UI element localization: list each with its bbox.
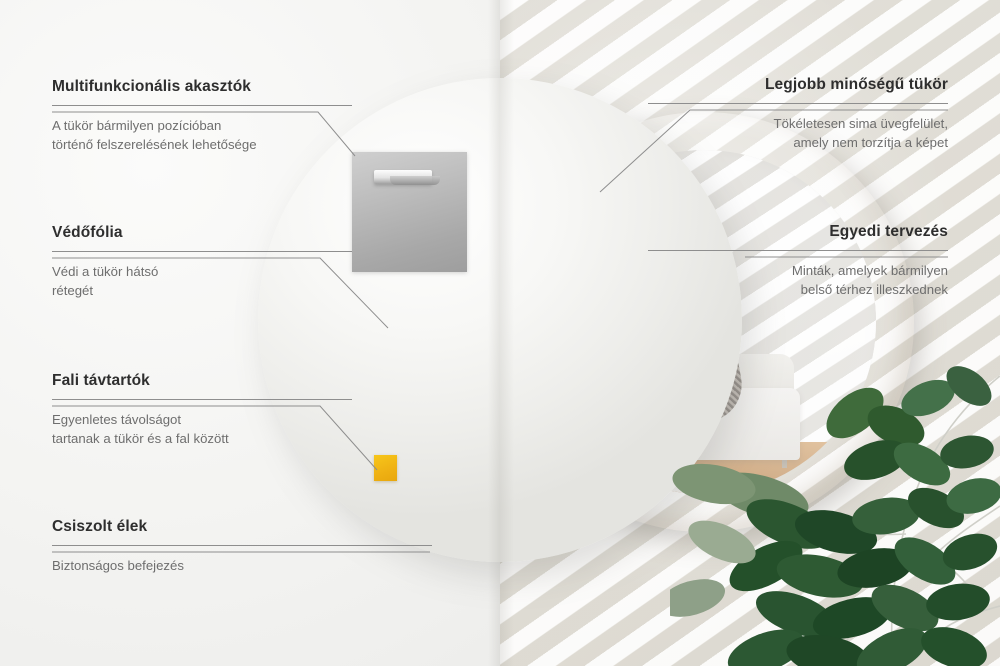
callout-title: Legjobb minőségű tükör bbox=[648, 76, 948, 94]
callout-rule bbox=[52, 105, 352, 106]
wall-spacer-block bbox=[374, 455, 397, 481]
callout-egyedi-tervezes: Egyedi tervezés Minták, amelyek bármilye… bbox=[648, 223, 948, 299]
callout-description: Tökéletesen sima üvegfelület, amely nem … bbox=[648, 115, 948, 152]
callout-rule bbox=[52, 545, 432, 546]
callout-title: Védőfólia bbox=[52, 224, 352, 242]
panel-split-shadow bbox=[488, 0, 514, 666]
callout-title: Csiszolt élek bbox=[52, 518, 432, 536]
callout-legjobb-minosegu-tukor: Legjobb minőségű tükör Tökéletesen sima … bbox=[648, 76, 948, 152]
callout-title: Egyedi tervezés bbox=[648, 223, 948, 241]
callout-multifunkcionalis-akasztok: Multifunkcionális akasztók A tükör bármi… bbox=[52, 78, 352, 154]
callout-rule bbox=[52, 251, 352, 252]
callout-csiszolt-elek: Csiszolt élek Biztonságos befejezés bbox=[52, 518, 432, 576]
product-infographic: Multifunkcionális akasztók A tükör bármi… bbox=[0, 0, 1000, 666]
hanger-plate bbox=[352, 152, 467, 272]
plant-leaves bbox=[670, 358, 1000, 666]
callout-title: Fali távtartók bbox=[52, 372, 352, 390]
callout-description: Minták, amelyek bármilyen belső térhez i… bbox=[648, 262, 948, 299]
callout-vedofolia: Védőfólia Védi a tükör hátsó rétegét bbox=[52, 224, 352, 300]
callout-title: Multifunkcionális akasztók bbox=[52, 78, 352, 96]
hanger-slot-shadow bbox=[390, 176, 440, 185]
houseplant-foliage bbox=[670, 356, 1000, 666]
callout-description: Biztonságos befejezés bbox=[52, 557, 432, 576]
callout-rule bbox=[648, 103, 948, 104]
callout-rule bbox=[648, 250, 948, 251]
callout-description: Egyenletes távolságot tartanak a tükör é… bbox=[52, 411, 352, 448]
callout-description: A tükör bármilyen pozícióban történő fel… bbox=[52, 117, 352, 154]
callout-description: Védi a tükör hátsó rétegét bbox=[52, 263, 352, 300]
callout-fali-tavtartok: Fali távtartók Egyenletes távolságot tar… bbox=[52, 372, 352, 448]
callout-rule bbox=[52, 399, 352, 400]
